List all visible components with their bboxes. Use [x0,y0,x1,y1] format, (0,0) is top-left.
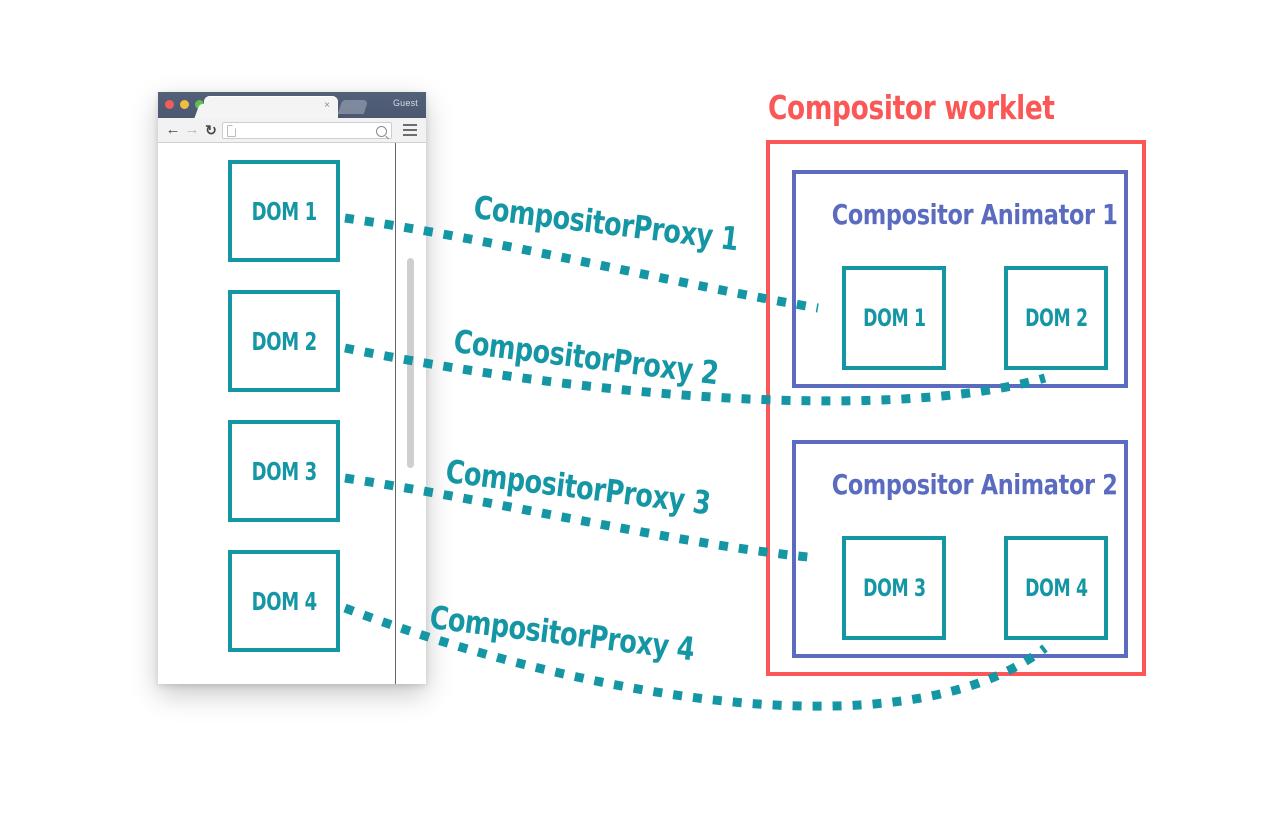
profile-guest-label[interactable]: Guest [393,98,418,108]
close-tab-icon[interactable]: × [324,100,330,112]
browser-toolbar: ← → ↻ [158,118,426,143]
compositor-animator-1-box: Compositor Animator 1 DOM 1 DOM 2 [792,170,1128,388]
dom-box-label: DOM 4 [251,587,316,616]
dom-box-label: DOM 4 [1025,574,1087,602]
new-tab-button[interactable] [338,100,369,114]
compositor-animator-2-title: Compositor Animator 2 [796,468,1124,501]
browser-titlebar: × Guest [158,92,426,118]
dom-box-label: DOM 1 [863,304,925,332]
dom-box-label: DOM 2 [1025,304,1087,332]
browser-window: × Guest ← → ↻ DOM 1 DOM 2 [158,92,426,684]
back-arrow-icon[interactable]: ← [165,122,181,138]
compositor-animator-2-box: Compositor Animator 2 DOM 3 DOM 4 [792,440,1128,658]
animator-1-dom-box-2: DOM 2 [1004,266,1108,370]
page-document-icon [227,125,236,137]
browser-tab[interactable]: × [204,96,338,118]
dom-box-label: DOM 2 [251,327,316,356]
compositor-worklet-title: Compositor worklet [768,88,1055,127]
browser-viewport: DOM 1 DOM 2 DOM 3 DOM 4 [158,143,426,684]
compositor-animator-1-title: Compositor Animator 1 [796,198,1124,231]
proxy-label-1: CompositorProxy 1 [472,188,807,266]
compositor-worklet-box: Compositor Animator 1 DOM 1 DOM 2 Compos… [766,140,1146,676]
page-dom-box-1: DOM 1 [228,160,340,262]
hamburger-menu-icon[interactable] [403,124,417,136]
minimize-window-button[interactable] [180,100,189,109]
close-window-button[interactable] [165,100,174,109]
page-dom-box-2: DOM 2 [228,290,340,392]
address-bar[interactable] [222,122,392,139]
vertical-scrollbar-track[interactable] [396,143,426,684]
dom-box-label: DOM 1 [251,197,316,226]
animator-2-dom-box-3: DOM 3 [842,536,946,640]
animator-1-dom-box-1: DOM 1 [842,266,946,370]
vertical-scrollbar-thumb[interactable] [407,258,414,468]
proxy-label-3: CompositorProxy 3 [444,452,779,530]
reload-icon[interactable]: ↻ [203,122,219,138]
dom-box-label: DOM 3 [251,457,316,486]
diagram-canvas: × Guest ← → ↻ DOM 1 DOM 2 [0,0,1280,815]
proxy-label-4: CompositorProxy 4 [428,598,763,676]
page-dom-box-4: DOM 4 [228,550,340,652]
page-dom-box-3: DOM 3 [228,420,340,522]
search-icon[interactable] [376,126,387,137]
proxy-label-2: CompositorProxy 2 [452,322,787,400]
animator-2-dom-box-4: DOM 4 [1004,536,1108,640]
forward-arrow-icon[interactable]: → [184,122,200,138]
dom-box-label: DOM 3 [863,574,925,602]
